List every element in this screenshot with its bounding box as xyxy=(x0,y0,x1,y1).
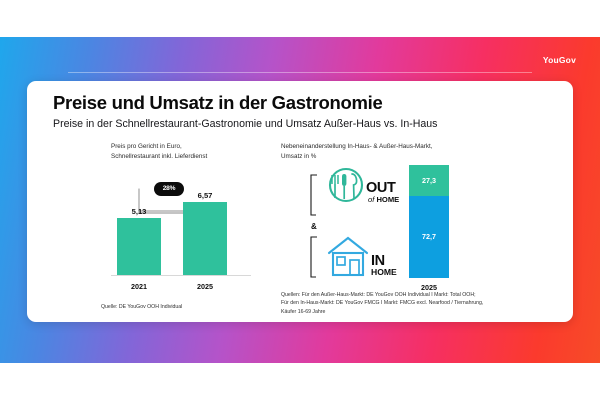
right-source-line-3: Käufer 16-69 Jahre xyxy=(281,308,551,316)
right-source-line-2: Für den In-Haus-Markt: DE YouGov FMCG I … xyxy=(281,299,551,307)
right-caption-line-2: Umsatz in % xyxy=(281,152,433,162)
left-chart-caption: Preis pro Gericht in Euro, Schnellrestau… xyxy=(111,142,207,162)
bar-value-2025: 6,57 xyxy=(183,191,227,200)
stack-segment-out-of-home: 27,3 xyxy=(409,165,449,196)
of-home-label: of HOME xyxy=(368,195,399,204)
left-source-note: Quelle: DE YouGov OOH Individual xyxy=(101,303,182,311)
growth-badge: 28% xyxy=(154,182,184,196)
stack-value-out-of-home: 27,3 xyxy=(409,176,449,185)
bar-column-2021: 5,13 2021 xyxy=(117,207,161,291)
bar-label-2025: 2025 xyxy=(183,282,227,291)
backdrop-hairline xyxy=(68,72,532,73)
right-caption-line-1: Nebeneinanderstellung In-Haus- & Außer-H… xyxy=(281,142,433,152)
right-chart-panel: Nebeneinanderstellung In-Haus- & Außer-H… xyxy=(253,81,573,322)
bar-column-2025: 6,57 2025 xyxy=(183,191,227,291)
out-label: OUT xyxy=(366,180,395,196)
stack-value-in-home: 72,7 xyxy=(409,232,449,241)
left-chart-panel: Preis pro Gericht in Euro, Schnellrestau… xyxy=(27,81,277,322)
price-bar-chart: 28% 5,13 2021 6,57 2025 xyxy=(111,181,251,291)
left-caption-line-1: Preis pro Gericht in Euro, xyxy=(111,142,207,152)
home-text-in: HOME xyxy=(371,267,397,277)
right-source-line-1: Quellen: Für den Außer-Haus-Markt: DE Yo… xyxy=(281,291,551,299)
yougov-logo: YouGov xyxy=(543,55,576,65)
ampersand-label: & xyxy=(311,222,317,231)
right-source-note: Quellen: Für den Außer-Haus-Markt: DE Yo… xyxy=(281,291,551,316)
left-caption-line-2: Schnellrestaurant inkl. Lieferdienst xyxy=(111,152,207,162)
slide-card: Preise und Umsatz in der Gastronomie Pre… xyxy=(27,81,573,322)
bar-rect-2021 xyxy=(117,218,161,275)
right-chart-caption: Nebeneinanderstellung In-Haus- & Außer-H… xyxy=(281,142,433,162)
revenue-stacked-bar-chart: 27,3 72,7 2025 xyxy=(405,165,465,295)
bar-value-2021: 5,13 xyxy=(117,207,161,216)
stack-segment-in-home: 72,7 xyxy=(409,196,449,278)
bar-rect-2025 xyxy=(183,202,227,275)
home-text-out: HOME xyxy=(376,195,399,204)
stacked-bar: 27,3 72,7 xyxy=(409,165,449,278)
bar-label-2021: 2021 xyxy=(117,282,161,291)
